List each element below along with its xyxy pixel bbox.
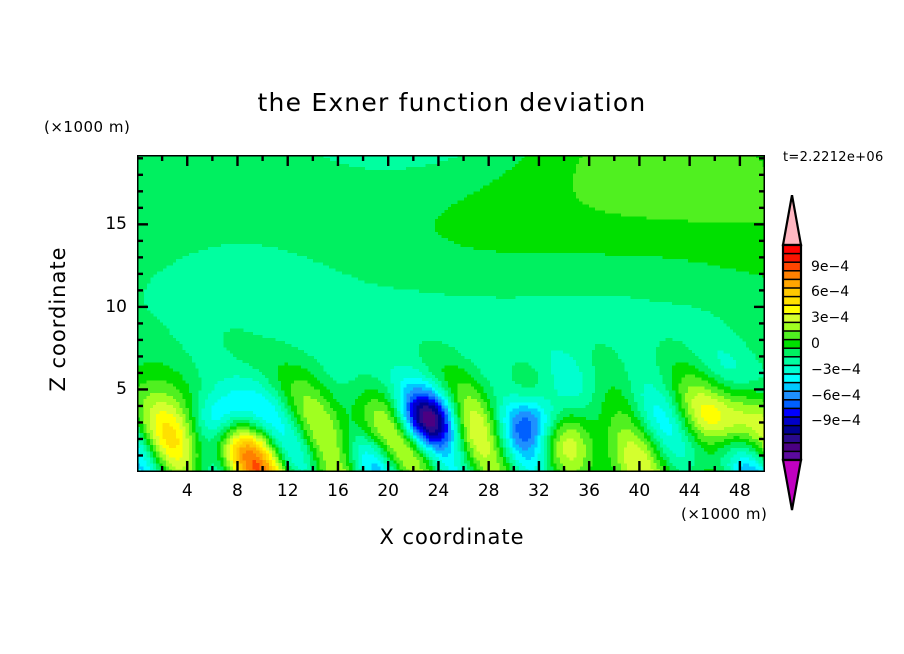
x-axis-title: X coordinate — [0, 525, 904, 549]
x-tick-label: 24 — [428, 481, 450, 501]
x-tick-label: 48 — [729, 481, 751, 501]
x-tick-label: 36 — [578, 481, 600, 501]
x-tick-label: 44 — [679, 481, 701, 501]
y-tick-label: 10 — [93, 297, 127, 317]
x-tick-label: 20 — [377, 481, 399, 501]
colorbar-tick-label: −6e−4 — [811, 388, 861, 404]
colorbar-tick-label: 9e−4 — [811, 259, 849, 275]
y-axis-title: Z coordinate — [46, 199, 70, 439]
colorbar-tick-label: −3e−4 — [811, 362, 861, 378]
colorbar: 9e−46e−43e−40−3e−4−6e−4−9e−4 — [775, 195, 895, 524]
colorbar-tick-label: −9e−4 — [811, 413, 861, 429]
colorbar-tick-label: 0 — [811, 336, 820, 352]
x-tick-label: 32 — [528, 481, 550, 501]
x-axis-units: (×1000 m) — [681, 505, 767, 523]
timestamp-annotation: t=2.2212e+06 — [783, 150, 884, 165]
contour-plot-area — [137, 155, 765, 472]
y-axis-units: (×1000 m) — [44, 118, 130, 136]
page-title: the Exner function deviation — [0, 88, 904, 117]
x-tick-label: 40 — [629, 481, 651, 501]
x-tick-label: 28 — [478, 481, 500, 501]
colorbar-tick-label: 6e−4 — [811, 284, 849, 300]
colorbar-tick-label: 3e−4 — [811, 310, 849, 326]
x-tick-label: 8 — [232, 481, 243, 501]
y-tick-label: 5 — [93, 379, 127, 399]
x-tick-label: 12 — [277, 481, 299, 501]
colorbar-svg — [775, 195, 895, 524]
x-tick-label: 16 — [327, 481, 349, 501]
contour-field — [137, 155, 765, 472]
x-tick-label: 4 — [182, 481, 193, 501]
y-tick-label: 15 — [93, 214, 127, 234]
